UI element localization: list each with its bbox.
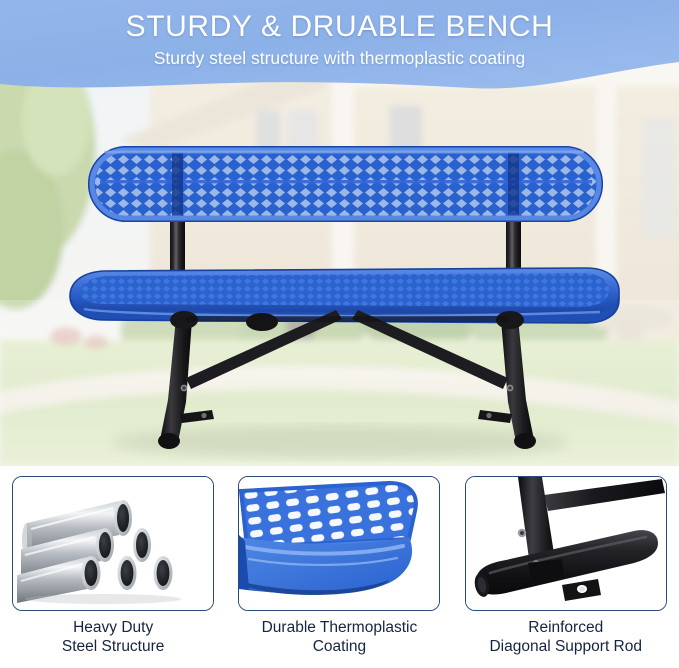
blue-coated-mesh-corner-graphic <box>239 477 440 611</box>
black-diagonal-support-rod-graphic <box>466 477 667 611</box>
thumb-support-rod <box>465 476 667 611</box>
banner-subtitle: Sturdy steel structure with thermoplasti… <box>0 48 679 69</box>
bench-backrest <box>88 146 603 222</box>
feature-item-steel-structure: Heavy Duty Steel Structure <box>0 466 226 668</box>
feature-caption-thermoplastic-coating: Durable Thermoplastic Coating <box>262 618 418 656</box>
feature-item-thermoplastic-coating: Durable Thermoplastic Coating <box>226 466 452 668</box>
caption-line-2: Coating <box>262 637 418 656</box>
caption-line-1: Reinforced <box>528 619 603 636</box>
feature-thumbnail-row: Heavy Duty Steel Structure <box>0 466 679 668</box>
feature-caption-support-rod: Reinforced Diagonal Support Rod <box>489 618 642 656</box>
caption-line-1: Durable Thermoplastic <box>262 619 418 636</box>
caption-line-2: Steel Structure <box>62 637 165 656</box>
caption-line-2: Diagonal Support Rod <box>489 637 642 656</box>
thumb-thermoplastic-coating <box>238 476 440 611</box>
feature-item-support-rod: Reinforced Diagonal Support Rod <box>453 466 679 668</box>
caption-line-1: Heavy Duty <box>73 619 153 636</box>
stacked-steel-pipes-graphic <box>13 477 214 611</box>
feature-caption-steel-structure: Heavy Duty Steel Structure <box>62 618 165 656</box>
thumb-steel-pipes <box>12 476 214 611</box>
banner-title: STURDY & DRUABLE BENCH <box>0 10 679 44</box>
header-banner: STURDY & DRUABLE BENCH Sturdy steel stru… <box>0 0 679 100</box>
bench-seat <box>70 268 619 323</box>
